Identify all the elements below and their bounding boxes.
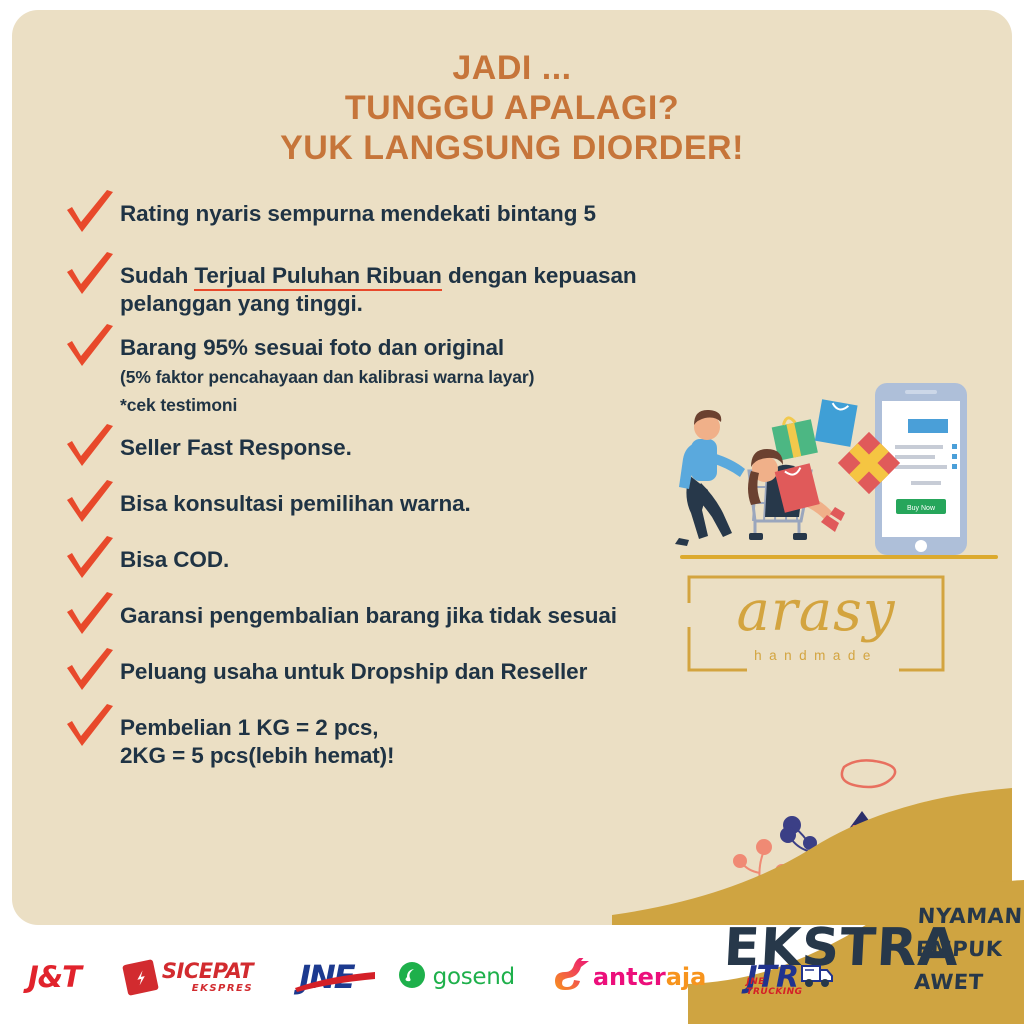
sicepat-label: SICEPAT [162, 961, 253, 982]
list-item-post: dengan kepuasan [442, 263, 637, 288]
list-item-label: Seller Fast Response. [120, 430, 352, 462]
heading-line-2: TUNGGU APALAGI? [12, 88, 1012, 128]
check-icon [64, 424, 120, 472]
courier-logo-jnt: J&T [28, 960, 81, 994]
list-item-label: Rating nyaris sempurna mendekati bintang… [120, 196, 596, 228]
sicepat-mark-icon [122, 959, 159, 996]
list-item-label: Garansi pengembalian barang jika tidak s… [120, 598, 617, 630]
list-item-highlight: Terjual Puluhan Ribuan [194, 263, 441, 291]
benefits-checklist: Rating nyaris sempurna mendekati bintang… [64, 196, 764, 776]
anteraja-label-a: anter [593, 963, 666, 991]
check-icon [64, 480, 120, 528]
heading-line-3: YUK LANGSUNG DIORDER! [12, 128, 1012, 168]
check-icon [64, 704, 120, 752]
heading-line-1: JADI ... [12, 48, 1012, 88]
list-item: Sudah Terjual Puluhan Ribuan dengan kepu… [64, 258, 764, 318]
gold-banner-subtitles: NYAMAN EMPUK AWET [913, 900, 1024, 999]
illustration-ground-line [680, 555, 998, 559]
list-item-note-2: *cek testimoni [120, 395, 237, 415]
list-item-line1: Pembelian 1 KG = 2 pcs, [120, 715, 378, 740]
list-item-note-1: (5% faktor pencahayaan dan kalibrasi war… [120, 367, 534, 387]
check-icon [64, 648, 120, 696]
list-item-line2: pelanggan yang tinggi. [120, 291, 363, 316]
list-item-label: Bisa konsultasi pemilihan warna. [120, 486, 471, 518]
list-item-label: Pembelian 1 KG = 2 pcs, 2KG = 5 pcs(lebi… [120, 710, 394, 770]
gold-banner-sub-3: AWET [913, 966, 1024, 999]
courier-logo-gosend: gosend [398, 961, 515, 994]
courier-logo-sicepat: SICEPAT EKSPRES [125, 961, 253, 994]
check-icon [64, 324, 120, 372]
list-item: Bisa COD. [64, 542, 764, 584]
list-item: Seller Fast Response. [64, 430, 764, 472]
courier-logos: J&T SICEPAT EKSPRES JNE g [0, 930, 700, 1024]
gosend-mark-icon [398, 961, 426, 994]
shopping-illustration: Buy Now [667, 375, 997, 565]
list-item: Pembelian 1 KG = 2 pcs, 2KG = 5 pcs(lebi… [64, 710, 764, 770]
gosend-label: gosend [433, 964, 515, 990]
list-item: Rating nyaris sempurna mendekati bintang… [64, 196, 764, 238]
check-icon [64, 252, 120, 300]
courier-logo-jne: JNE [299, 958, 354, 996]
list-item: Barang 95% sesuai foto dan original (5% … [64, 330, 764, 418]
list-item-label: Barang 95% sesuai foto dan original (5% … [120, 330, 534, 418]
list-item-label: Peluang usaha untuk Dropship dan Reselle… [120, 654, 587, 686]
phone-buy-now-label: Buy Now [907, 505, 936, 512]
truck-icon [800, 960, 834, 995]
page-title: JADI ... TUNGGU APALAGI? YUK LANGSUNG DI… [12, 48, 1012, 168]
check-icon [64, 592, 120, 640]
anteraja-mark-icon [553, 958, 589, 997]
gold-banner-sub-2: EMPUK [915, 933, 1024, 966]
courier-logo-anteraja: anteraja [553, 958, 707, 997]
list-item: Bisa konsultasi pemilihan warna. [64, 486, 764, 528]
anteraja-label-b: aja [666, 963, 707, 991]
jnt-label: J&T [28, 960, 81, 994]
promo-graphic: JADI ... TUNGGU APALAGI? YUK LANGSUNG DI… [0, 0, 1024, 1024]
list-item-pre: Sudah [120, 263, 194, 288]
list-item-label: Sudah Terjual Puluhan Ribuan dengan kepu… [120, 258, 637, 318]
check-icon [64, 190, 120, 238]
jne-swoosh-icon [293, 954, 377, 994]
list-item-main: Barang 95% sesuai foto dan original [120, 335, 504, 360]
anteraja-wordmark: anteraja [593, 963, 707, 991]
check-icon [64, 536, 120, 584]
list-item-label: Bisa COD. [120, 542, 229, 574]
sicepat-sub-label: EKSPRES [162, 984, 253, 994]
brand-name: arasy [687, 579, 945, 644]
gold-banner-sub-1: NYAMAN [917, 900, 1024, 933]
list-item: Peluang usaha untuk Dropship dan Reselle… [64, 654, 764, 696]
brand-tagline: handmade [687, 648, 945, 663]
promo-card: JADI ... TUNGGU APALAGI? YUK LANGSUNG DI… [12, 10, 1012, 925]
courier-logo-jtr: JTR JNE TRUCKING [746, 960, 834, 995]
list-item: Garansi pengembalian barang jika tidak s… [64, 598, 764, 640]
sicepat-wordmark: SICEPAT EKSPRES [162, 961, 253, 994]
list-item-line2: 2KG = 5 pcs(lebih hemat)! [120, 743, 394, 768]
brand-logo: arasy handmade [687, 575, 945, 672]
jtr-sub-label: JNE TRUCKING [746, 977, 802, 997]
